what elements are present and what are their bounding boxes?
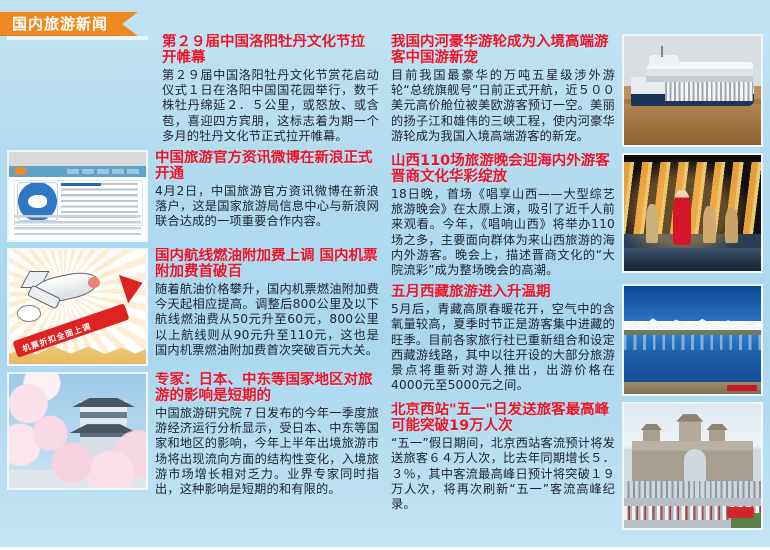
right-column: 我国内河豪华游轮成为入境高端游客中国游新宠 目前我国最豪华的万吨五星级涉外游轮“… (385, 34, 770, 550)
two-column-layout: 第２９届中国洛阳牡丹文化节拉开帷幕 第２９届中国洛阳牡丹文化节赏花启动仪式１日在… (0, 34, 770, 550)
news-headline[interactable]: 五月西藏旅游进入升温期 (391, 284, 615, 300)
beijing-west-railway-station-photo (622, 402, 763, 530)
news-item[interactable]: 我国内河豪华游轮成为入境高端游客中国游新宠 目前我国最豪华的万吨五星级涉外游轮“… (391, 34, 763, 147)
news-text-block: 中国旅游官方资讯微博在新浪正式开通 4月2日，中国旅游官方资讯微博在新浪落户，这… (155, 150, 379, 230)
section-tab-label: 国内旅游新闻 (0, 12, 122, 36)
news-item[interactable]: 五月西藏旅游进入升温期 5月后，青藏高原春暖花开，空气中的含氧量较高，夏季时节正… (391, 284, 763, 396)
news-text-block: 我国内河豪华游轮成为入境高端游客中国游新宠 目前我国最豪华的万吨五星级涉外游轮“… (391, 34, 615, 144)
news-item[interactable]: 中国旅游官方资讯微博在新浪正式开通 4月2日，中国旅游官方资讯微博在新浪落户，这… (7, 150, 379, 242)
sina-weibo-page-screenshot (7, 150, 148, 242)
news-body: 第２９届中国洛阳牡丹文化节赏花启动仪式１日在洛阳中国国花园举行，数千株牡丹绵延２… (162, 68, 379, 144)
news-text-block: 山西110场旅游晚会迎海内外游客 晋商文化华彩绽放 18日晚，首场《唱享山西——… (391, 153, 615, 278)
news-body: 目前我国最豪华的万吨五星级涉外游轮“总统旗舰号”日前正式开航，近５００美元高价舱… (391, 68, 615, 144)
left-column: 第２９届中国洛阳牡丹文化节拉开帷幕 第２９届中国洛阳牡丹文化节赏花启动仪式１日在… (0, 34, 385, 550)
news-body: 5月后，青藏高原春暖花开，空气中的含氧量较高，夏季时节正是游客集中进藏的旺季。目… (391, 302, 615, 393)
news-item[interactable]: 北京西站"五一"日发送旅客最高峰可能突破19万人次 “五一”假日期间，北京西站客… (391, 402, 763, 530)
news-item[interactable]: 机票折扣全面上调 国内航线燃油附加费上调 国内机票附加费首破百 随着航油价格攀升… (7, 248, 379, 366)
news-headline[interactable]: 山西110场旅游晚会迎海内外游客 晋商文化华彩绽放 (391, 153, 615, 185)
japanese-castle-cherry-blossom-photo (7, 372, 148, 490)
news-headline[interactable]: 我国内河豪华游轮成为入境高端游客中国游新宠 (391, 34, 615, 66)
news-text-block: 国内航线燃油附加费上调 国内机票附加费首破百 随着航油价格攀升，国内机票燃油附加… (155, 248, 379, 358)
news-headline[interactable]: 中国旅游官方资讯微博在新浪正式开通 (155, 150, 379, 182)
news-headline[interactable]: 国内航线燃油附加费上调 国内机票附加费首破百 (155, 248, 379, 280)
news-headline[interactable]: 第２９届中国洛阳牡丹文化节拉开帷幕 (162, 34, 379, 66)
stage-performance-photo (622, 153, 763, 273)
news-headline[interactable]: 北京西站"五一"日发送旅客最高峰可能突破19万人次 (391, 402, 615, 434)
section-tab: 国内旅游新闻 (0, 12, 122, 36)
airplane-price-rise-illustration: 机票折扣全面上调 (7, 248, 148, 366)
peony-flowers-photo (7, 36, 148, 40)
news-headline[interactable]: 专家：日本、中东等国家地区对旅游的影响是短期的 (155, 372, 379, 404)
news-item[interactable]: 专家：日本、中东等国家地区对旅游的影响是短期的 中国旅游研究院７日发布的今年一季… (7, 372, 379, 497)
news-body: 随着航油价格攀升，国内机票燃油附加费今天起相应提高。调整后800公里及以下航线燃… (155, 282, 379, 358)
news-text-block: 第２９届中国洛阳牡丹文化节拉开帷幕 第２９届中国洛阳牡丹文化节赏花启动仪式１日在… (162, 34, 379, 144)
river-cruise-ship-photo (622, 34, 763, 147)
tibet-lake-snow-mountain-photo (622, 284, 763, 396)
news-body: 4月2日，中国旅游官方资讯微博在新浪落户，这是国家旅游局信息中心与新浪网联合达成… (155, 184, 379, 230)
news-item[interactable]: 山西110场旅游晚会迎海内外游客 晋商文化华彩绽放 18日晚，首场《唱享山西——… (391, 153, 763, 278)
news-body: 中国旅游研究院７日发布的今年一季度旅游经济运行分析显示，受日本、中东等国家和地区… (155, 406, 379, 497)
news-text-block: 五月西藏旅游进入升温期 5月后，青藏高原春暖花开，空气中的含氧量较高，夏季时节正… (391, 284, 615, 393)
news-text-block: 北京西站"五一"日发送旅客最高峰可能突破19万人次 “五一”假日期间，北京西站客… (391, 402, 615, 512)
news-digest-page: 国内旅游新闻 第２９届中国洛阳牡丹文化节拉开帷幕 第２９届中国洛阳牡丹文化节赏花… (0, 0, 770, 550)
news-body: “五一”假日期间，北京西站客流预计将发送旅客６４万人次，比去年同期增长５．３％，… (391, 436, 615, 512)
news-body: 18日晚，首场《唱享山西——大型综艺旅游晚会》在太原上演，吸引了近千人前来观看。… (391, 187, 615, 278)
news-text-block: 专家：日本、中东等国家地区对旅游的影响是短期的 中国旅游研究院７日发布的今年一季… (155, 372, 379, 497)
news-item[interactable]: 第２９届中国洛阳牡丹文化节拉开帷幕 第２９届中国洛阳牡丹文化节赏花启动仪式１日在… (7, 34, 379, 144)
